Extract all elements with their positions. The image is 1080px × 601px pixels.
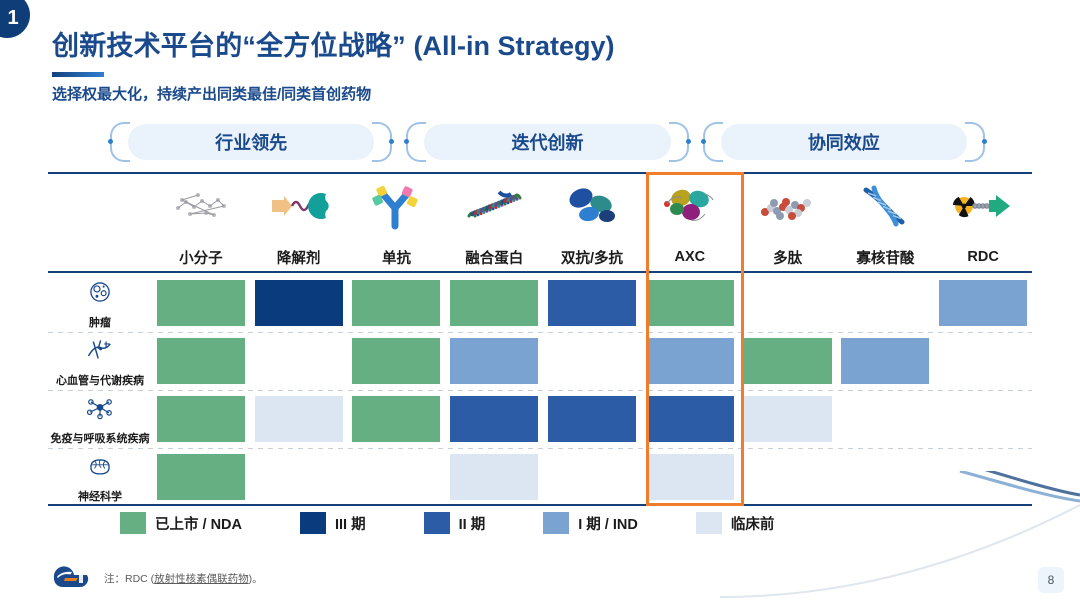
stage-block-paleblue_preclinical bbox=[744, 396, 832, 442]
legend-item-2: II 期 bbox=[424, 512, 486, 534]
modality-icon-cell-多肽 bbox=[739, 176, 837, 240]
row-label-text: 免疫与呼吸系统疾病 bbox=[51, 430, 150, 446]
modality-icon-cell-双抗/多抗 bbox=[543, 176, 641, 240]
column-header-多肽: 多肽 bbox=[739, 244, 837, 270]
company-logo bbox=[52, 566, 96, 590]
page-subtitle: 选择权最大化，持续产出同类最佳/同类首创药物 bbox=[52, 83, 371, 104]
column-header-小分子: 小分子 bbox=[152, 244, 250, 270]
matrix-cell-肿瘤-小分子 bbox=[152, 274, 250, 332]
matrix-row-免疫与呼吸系统疾病: 免疫与呼吸系统疾病 bbox=[48, 390, 1032, 448]
oligonucleotide-dna-icon bbox=[852, 182, 918, 235]
pill-dot-left bbox=[108, 139, 113, 144]
legend-label: II 期 bbox=[459, 513, 486, 534]
immunology-respiratory-icon bbox=[80, 393, 120, 428]
small-molecule-icon bbox=[168, 182, 234, 235]
modality-icon-cell-小分子 bbox=[152, 176, 250, 240]
stage-block-green_nda bbox=[352, 338, 440, 384]
stage-block-empty bbox=[352, 454, 440, 500]
matrix-cell-肿瘤-寡核苷酸 bbox=[836, 274, 934, 332]
stage-block-green_nda bbox=[352, 280, 440, 326]
matrix-corner-spacer bbox=[48, 244, 152, 270]
stage-block-green_nda bbox=[157, 338, 245, 384]
neuroscience-brain-icon bbox=[80, 451, 120, 486]
stage-block-blue_p2 bbox=[548, 396, 636, 442]
stage-block-empty bbox=[548, 338, 636, 384]
matrix-cell-心血管与代谢疾病-双抗/多抗 bbox=[543, 332, 641, 390]
axc-conjugate-icon bbox=[657, 182, 723, 235]
pill-bracket-left bbox=[406, 122, 426, 162]
matrix-cell-免疫与呼吸系统疾病-RDC bbox=[934, 390, 1032, 448]
legend-swatch bbox=[543, 512, 569, 534]
pill-label: 迭代创新 bbox=[511, 129, 583, 155]
stage-block-green_nda bbox=[646, 280, 734, 326]
footnote-suffix: )。 bbox=[249, 573, 263, 585]
modality-icon-cell-降解剂 bbox=[250, 176, 348, 240]
column-header-降解剂: 降解剂 bbox=[250, 244, 348, 270]
legend-swatch bbox=[300, 512, 326, 534]
pill-label: 行业领先 bbox=[215, 129, 287, 155]
matrix-cell-神经科学-双抗/多抗 bbox=[543, 448, 641, 506]
matrix-cell-肿瘤-AXC bbox=[641, 274, 739, 332]
matrix-cell-免疫与呼吸系统疾病-AXC bbox=[641, 390, 739, 448]
slide-root: 1 创新技术平台的“全方位战略” (All-in Strategy) 选择权最大… bbox=[0, 0, 1080, 601]
stage-block-navy_p3 bbox=[255, 280, 343, 326]
pill-bracket-left bbox=[110, 122, 130, 162]
matrix-cell-免疫与呼吸系统疾病-融合蛋白 bbox=[445, 390, 543, 448]
stage-block-empty bbox=[744, 454, 832, 500]
page-title: 创新技术平台的“全方位战略” (All-in Strategy) bbox=[52, 24, 615, 63]
column-header-RDC: RDC bbox=[934, 244, 1032, 270]
modality-icon-cell-寡核苷酸 bbox=[836, 176, 934, 240]
row-label-text: 肿瘤 bbox=[89, 314, 111, 330]
matrix-cell-神经科学-多肽 bbox=[739, 448, 837, 506]
stage-block-empty bbox=[939, 338, 1027, 384]
matrix-cell-免疫与呼吸系统疾病-双抗/多抗 bbox=[543, 390, 641, 448]
pill-dot-right bbox=[389, 139, 394, 144]
matrix-cell-神经科学-寡核苷酸 bbox=[836, 448, 934, 506]
page-title-en: (All-in Strategy) bbox=[414, 31, 615, 61]
stage-block-empty bbox=[841, 396, 929, 442]
category-pill-row: 行业领先 迭代创新 协同效应 bbox=[110, 122, 985, 162]
pill-dot-right bbox=[686, 139, 691, 144]
footnote-underlined: 放射性核素偶联药物 bbox=[154, 573, 249, 585]
legend-label: 临床前 bbox=[731, 513, 775, 534]
stage-block-paleblue_preclinical bbox=[255, 396, 343, 442]
matrix-cell-神经科学-单抗 bbox=[348, 448, 446, 506]
stage-block-empty bbox=[841, 280, 929, 326]
matrix-header-rule bbox=[48, 271, 1032, 273]
matrix-cell-免疫与呼吸系统疾病-降解剂 bbox=[250, 390, 348, 448]
tumor-cell-icon bbox=[80, 277, 120, 312]
matrix-cell-免疫与呼吸系统疾病-小分子 bbox=[152, 390, 250, 448]
stage-block-blue_p2 bbox=[450, 396, 538, 442]
title-underline-rule bbox=[52, 72, 104, 77]
row-label-肿瘤: 肿瘤 bbox=[48, 274, 152, 332]
legend-item-0: 已上市 / NDA bbox=[120, 512, 242, 534]
row-label-text: 神经科学 bbox=[78, 488, 122, 504]
stage-block-lightblue_p1 bbox=[939, 280, 1027, 326]
pill-label: 协同效应 bbox=[808, 129, 880, 155]
column-header-融合蛋白: 融合蛋白 bbox=[445, 244, 543, 270]
stage-block-empty bbox=[841, 454, 929, 500]
matrix-cell-心血管与代谢疾病-融合蛋白 bbox=[445, 332, 543, 390]
stage-block-green_nda bbox=[352, 396, 440, 442]
stage-block-blue_p2 bbox=[548, 280, 636, 326]
stage-block-green_nda bbox=[744, 338, 832, 384]
modality-icon-row bbox=[48, 176, 1032, 240]
footnote: 注：RDC (放射性核素偶联药物)。 bbox=[104, 571, 263, 586]
stage-block-green_nda bbox=[157, 454, 245, 500]
matrix-cell-免疫与呼吸系统疾病-多肽 bbox=[739, 390, 837, 448]
modality-icon-cell-AXC bbox=[641, 176, 739, 240]
stage-block-lightblue_p1 bbox=[450, 338, 538, 384]
pill-bracket-left bbox=[703, 122, 723, 162]
stage-block-paleblue_preclinical bbox=[646, 454, 734, 500]
legend-item-1: III 期 bbox=[300, 512, 366, 534]
stage-block-empty bbox=[255, 454, 343, 500]
stage-block-green_nda bbox=[450, 280, 538, 326]
matrix-cell-心血管与代谢疾病-RDC bbox=[934, 332, 1032, 390]
stage-block-empty bbox=[939, 396, 1027, 442]
matrix-cell-免疫与呼吸系统疾病-单抗 bbox=[348, 390, 446, 448]
legend-item-4: 临床前 bbox=[696, 512, 775, 534]
column-header-寡核苷酸: 寡核苷酸 bbox=[836, 244, 934, 270]
legend-item-3: I 期 / IND bbox=[543, 512, 638, 534]
matrix-top-rule bbox=[48, 172, 1032, 174]
stage-block-lightblue_p1 bbox=[841, 338, 929, 384]
legend-swatch bbox=[696, 512, 722, 534]
pill-industry-leading[interactable]: 行业领先 bbox=[110, 122, 392, 162]
modality-icon-cell-融合蛋白 bbox=[445, 176, 543, 240]
matrix-cell-神经科学-小分子 bbox=[152, 448, 250, 506]
row-label-心血管与代谢疾病: 心血管与代谢疾病 bbox=[48, 332, 152, 390]
page-title-cn: 创新技术平台的“全方位战略” bbox=[52, 31, 406, 61]
matrix-cell-神经科学-融合蛋白 bbox=[445, 448, 543, 506]
stage-block-lightblue_p1 bbox=[646, 338, 734, 384]
matrix-cell-神经科学-降解剂 bbox=[250, 448, 348, 506]
matrix-corner-spacer bbox=[48, 176, 152, 240]
page-number: 8 bbox=[1038, 567, 1064, 593]
row-label-免疫与呼吸系统疾病: 免疫与呼吸系统疾病 bbox=[48, 390, 152, 448]
matrix-cell-肿瘤-RDC bbox=[934, 274, 1032, 332]
stage-legend: 已上市 / NDAIII 期II 期I 期 / IND临床前 bbox=[120, 510, 990, 536]
legend-swatch bbox=[120, 512, 146, 534]
matrix-cell-肿瘤-单抗 bbox=[348, 274, 446, 332]
stage-block-empty bbox=[744, 280, 832, 326]
column-header-双抗/多抗: 双抗/多抗 bbox=[543, 244, 641, 270]
matrix-row-肿瘤: 肿瘤 bbox=[48, 274, 1032, 332]
matrix-cell-神经科学-AXC bbox=[641, 448, 739, 506]
matrix-cell-心血管与代谢疾病-多肽 bbox=[739, 332, 837, 390]
pill-dot-right bbox=[982, 139, 987, 144]
radionuclide-conjugate-icon bbox=[950, 182, 1016, 235]
stage-block-blue_p2 bbox=[646, 396, 734, 442]
degrader-icon bbox=[266, 182, 332, 235]
monoclonal-antibody-icon bbox=[363, 182, 429, 235]
modality-icon-cell-RDC bbox=[934, 176, 1032, 240]
pill-iterative-innovation[interactable]: 迭代创新 bbox=[406, 122, 688, 162]
matrix-row-神经科学: 神经科学 bbox=[48, 448, 1032, 506]
pill-synergy[interactable]: 协同效应 bbox=[703, 122, 985, 162]
peptide-icon bbox=[755, 182, 821, 235]
slide-number-badge: 1 bbox=[0, 0, 30, 38]
stage-block-green_nda bbox=[157, 280, 245, 326]
cardiovascular-metabolic-icon bbox=[80, 335, 120, 370]
matrix-cell-神经科学-RDC bbox=[934, 448, 1032, 506]
stage-block-paleblue_preclinical bbox=[450, 454, 538, 500]
stage-block-empty bbox=[548, 454, 636, 500]
badge-number: 1 bbox=[7, 7, 18, 30]
column-header-AXC: AXC bbox=[641, 244, 739, 270]
matrix-cell-心血管与代谢疾病-寡核苷酸 bbox=[836, 332, 934, 390]
modality-icon-cell-单抗 bbox=[348, 176, 446, 240]
legend-swatch bbox=[424, 512, 450, 534]
modality-header-row: 小分子降解剂单抗融合蛋白双抗/多抗AXC多肽寡核苷酸RDC bbox=[48, 244, 1032, 270]
matrix-cell-肿瘤-降解剂 bbox=[250, 274, 348, 332]
matrix-cell-心血管与代谢疾病-小分子 bbox=[152, 332, 250, 390]
matrix-cell-心血管与代谢疾病-AXC bbox=[641, 332, 739, 390]
bispecific-antibody-icon bbox=[559, 182, 625, 235]
matrix-cell-免疫与呼吸系统疾病-寡核苷酸 bbox=[836, 390, 934, 448]
matrix-cell-心血管与代谢疾病-降解剂 bbox=[250, 332, 348, 390]
matrix-row-心血管与代谢疾病: 心血管与代谢疾病 bbox=[48, 332, 1032, 390]
matrix-cell-心血管与代谢疾病-单抗 bbox=[348, 332, 446, 390]
stage-block-empty bbox=[255, 338, 343, 384]
matrix-cell-肿瘤-融合蛋白 bbox=[445, 274, 543, 332]
column-header-单抗: 单抗 bbox=[348, 244, 446, 270]
footnote-prefix: 注：RDC ( bbox=[104, 573, 154, 585]
matrix-cell-肿瘤-双抗/多抗 bbox=[543, 274, 641, 332]
pill-dot-left bbox=[701, 139, 706, 144]
matrix-cell-肿瘤-多肽 bbox=[739, 274, 837, 332]
row-label-神经科学: 神经科学 bbox=[48, 448, 152, 506]
modality-indication-matrix: 小分子降解剂单抗融合蛋白双抗/多抗AXC多肽寡核苷酸RDC 肿瘤心血管与代谢疾病… bbox=[48, 172, 1032, 506]
matrix-body: 肿瘤心血管与代谢疾病免疫与呼吸系统疾病神经科学 bbox=[48, 274, 1032, 506]
legend-label: 已上市 / NDA bbox=[155, 513, 242, 534]
stage-block-empty bbox=[939, 454, 1027, 500]
fusion-protein-icon bbox=[461, 182, 527, 235]
legend-label: III 期 bbox=[335, 513, 366, 534]
legend-label: I 期 / IND bbox=[578, 513, 638, 534]
row-label-text: 心血管与代谢疾病 bbox=[56, 372, 144, 388]
stage-block-green_nda bbox=[157, 396, 245, 442]
